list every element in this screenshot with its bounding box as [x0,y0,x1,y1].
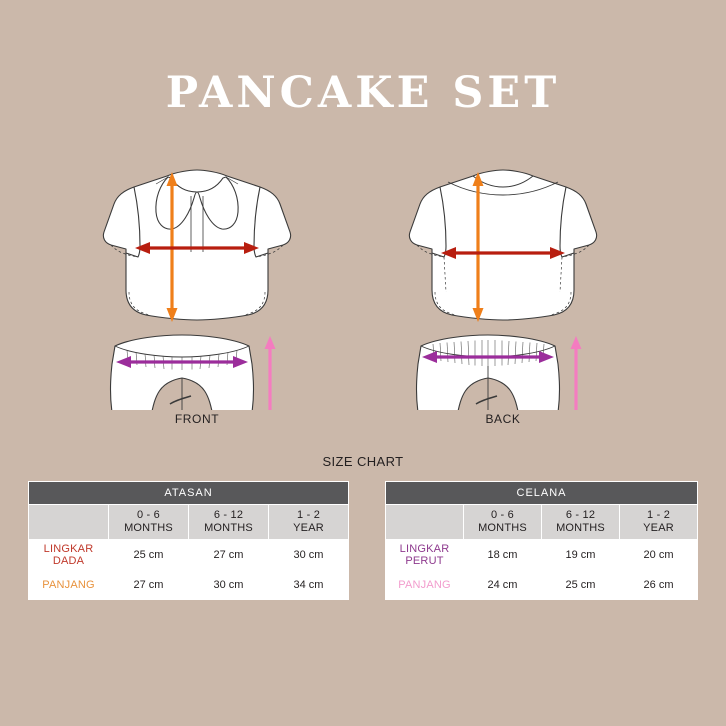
table-celana-cell-0-1: 19 cm [542,540,620,570]
table-celana-cell-0-2: 20 cm [620,540,698,570]
front-garment-svg [72,160,322,410]
back-shorts-seat-detail [476,396,497,404]
table-atasan-header-row: 0 - 6 MONTHS 6 - 12 MONTHS 1 - 2 YEAR [29,505,349,540]
table-atasan-cell-0-0: 25 cm [109,540,189,570]
table-row: PANJANG 27 cm 30 cm 34 cm [29,570,349,600]
table-atasan-cell-1-2: 34 cm [269,570,349,600]
table-celana-cell-1-1: 25 cm [542,570,620,600]
back-garment-svg [378,160,628,410]
table-atasan-col-2-line2: YEAR [269,522,348,535]
back-view: BACK [378,160,628,435]
garment-illustrations: FRONT [0,160,726,435]
table-celana-row-0-label: LINGKAR PERUT [386,540,464,570]
table-atasan-cell-1-1: 30 cm [189,570,269,600]
table-celana-header-row: 0 - 6 MONTHS 6 - 12 MONTHS 1 - 2 YEAR [386,505,698,540]
table-celana: CELANA 0 - 6 MONTHS 6 - 12 MONTHS 1 - 2 … [385,481,698,600]
table-atasan-col-0: 0 - 6 MONTHS [109,505,189,540]
table-celana-cell-1-2: 26 cm [620,570,698,600]
table-atasan-col-0-line2: MONTHS [109,522,188,535]
table-atasan-corner-cell [29,505,109,540]
table-atasan-cell-1-0: 27 cm [109,570,189,600]
table-atasan-title-row: ATASAN [29,482,349,505]
table-atasan-row-1-label-line1: PANJANG [29,579,108,591]
pants-length-arrow [265,336,276,410]
table-celana-col-1: 6 - 12 MONTHS [542,505,620,540]
table-celana-row-1-label-line1: PANJANG [386,579,463,591]
table-atasan-col-0-line1: 0 - 6 [109,509,188,522]
table-celana-col-0: 0 - 6 MONTHS [464,505,542,540]
table-atasan-col-2: 1 - 2 YEAR [269,505,349,540]
front-view-label: FRONT [72,412,322,426]
table-celana-col-2-line2: YEAR [620,522,697,535]
table-celana-col-1-line2: MONTHS [542,522,619,535]
table-atasan-col-1: 6 - 12 MONTHS [189,505,269,540]
table-atasan-row-1-label: PANJANG [29,570,109,600]
table-celana-cell-0-0: 18 cm [464,540,542,570]
table-atasan-col-1-line1: 6 - 12 [189,509,268,522]
table-celana-col-2: 1 - 2 YEAR [620,505,698,540]
size-chart-page: PANCAKE SET [0,0,726,726]
table-celana-col-0-line1: 0 - 6 [464,509,541,522]
table-atasan-col-1-line2: MONTHS [189,522,268,535]
back-shirt-body [409,170,596,320]
table-atasan: ATASAN 0 - 6 MONTHS 6 - 12 MONTHS 1 - 2 … [28,481,349,600]
front-shorts-fly-detail [170,396,191,404]
table-atasan-title: ATASAN [29,482,349,505]
table-celana-col-1-line1: 6 - 12 [542,509,619,522]
page-title: PANCAKE SET [0,72,726,115]
table-celana-title: CELANA [386,482,698,505]
table-atasan-col-2-line1: 1 - 2 [269,509,348,522]
table-row: PANJANG 24 cm 25 cm 26 cm [386,570,698,600]
size-tables: ATASAN 0 - 6 MONTHS 6 - 12 MONTHS 1 - 2 … [0,481,726,596]
table-atasan-row-0-label-line1: LINGKAR [29,543,108,555]
table-atasan-cell-0-2: 30 cm [269,540,349,570]
table-row: LINGKAR DADA 25 cm 27 cm 30 cm [29,540,349,570]
table-row: LINGKAR PERUT 18 cm 19 cm 20 cm [386,540,698,570]
size-chart-caption: SIZE CHART [0,454,726,469]
table-atasan-row-0-label-line2: DADA [29,555,108,567]
pants-length-arrow [571,336,582,410]
table-celana-col-0-line2: MONTHS [464,522,541,535]
table-celana-row-0-label-line2: PERUT [386,555,463,567]
table-atasan-row-0-label: LINGKAR DADA [29,540,109,570]
table-celana-row-0-label-line1: LINGKAR [386,543,463,555]
front-view: FRONT [72,160,322,435]
table-celana-corner-cell [386,505,464,540]
table-atasan-cell-0-1: 27 cm [189,540,269,570]
table-celana-title-row: CELANA [386,482,698,505]
table-celana-cell-1-0: 24 cm [464,570,542,600]
back-view-label: BACK [378,412,628,426]
table-celana-col-2-line1: 1 - 2 [620,509,697,522]
table-celana-row-1-label: PANJANG [386,570,464,600]
